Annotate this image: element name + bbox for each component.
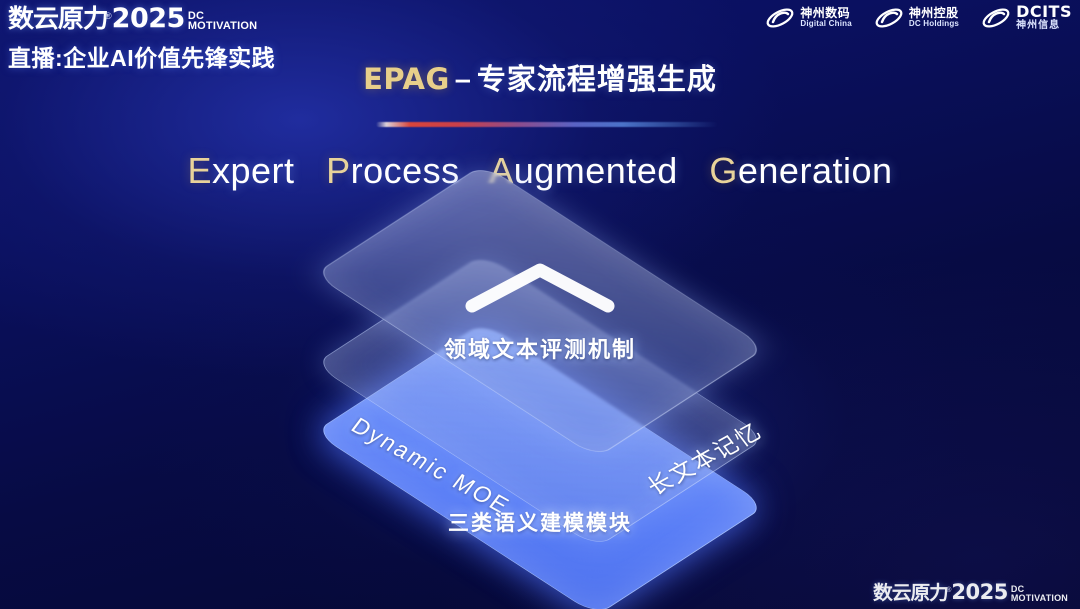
subtitle-word-augmented: Augmented (489, 150, 678, 191)
subtitle-remainder: ugmented (514, 150, 678, 191)
brand-year: 2025 (112, 5, 185, 32)
partner-logo-dcits: DCITS 神州信息 (981, 4, 1072, 31)
brand-motivation-label: MOTIVATION (188, 21, 257, 31)
subtitle-space (305, 150, 316, 191)
title-abbreviation: EPAG (363, 62, 450, 96)
chevron-up-icon (460, 258, 620, 316)
swirl-icon (874, 5, 904, 31)
subtitle-word-process: Process (326, 150, 460, 191)
partner-logo-digital-china: 神州数码 Digital China (765, 5, 852, 31)
watermark-dc-motivation: DC MOTIVATION (1011, 585, 1068, 602)
watermark-year: 2025 (951, 582, 1007, 603)
subtitle-word-generation: Generation (709, 150, 892, 191)
swirl-icon (765, 5, 795, 31)
corner-watermark: 数云原力®2025 DC MOTIVATION (873, 582, 1068, 603)
partner-name-en: Digital China (800, 20, 852, 28)
title-dash: – (455, 64, 472, 96)
subtitle-remainder: xpert (212, 150, 295, 191)
partner-name-en-primary: DCITS (1016, 4, 1072, 21)
chevron-up-glyph (460, 258, 620, 316)
brand-name-cn: 数云原力 (8, 7, 108, 32)
title-divider (376, 122, 718, 127)
slide-title: EPAG–专家流程增强生成 (0, 56, 1080, 98)
partner-name-en: DC Holdings (909, 20, 959, 28)
subtitle-remainder: rocess (351, 150, 460, 191)
subtitle-word-expert: Expert (187, 150, 294, 191)
watermark-registered-mark: ® (946, 587, 951, 594)
subtitle-initial: P (326, 150, 351, 191)
partner-logo-group: 神州数码 Digital China 神州控股 DC Holdings DCIT… (765, 4, 1072, 31)
brand-logo: 数云原力®2025 DC MOTIVATION (8, 2, 338, 32)
partner-name-cn: 神州控股 (909, 7, 959, 20)
swirl-icon (981, 5, 1011, 31)
partner-text-dc-holdings: 神州控股 DC Holdings (909, 7, 959, 28)
slide-subtitle: Expert Process Augmented Generation (0, 150, 1080, 192)
partner-text-dcits: DCITS 神州信息 (1016, 4, 1072, 31)
brand-dc-motivation: DC MOTIVATION (188, 11, 257, 31)
subtitle-initial: E (187, 150, 212, 191)
registered-mark: ® (105, 12, 112, 21)
presentation-slide: 数云原力®2025 DC MOTIVATION 直播:企业AI价值先锋实践 神州… (0, 0, 1080, 609)
subtitle-remainder: eneration (738, 150, 893, 191)
partner-text-digital-china: 神州数码 Digital China (800, 7, 852, 28)
partner-name-cn: 神州数码 (800, 7, 852, 20)
partner-logo-dc-holdings: 神州控股 DC Holdings (874, 5, 959, 31)
partner-name-cn-sub: 神州信息 (1016, 21, 1072, 32)
watermark-brand-cn: 数云原力 (873, 584, 948, 603)
subtitle-initial: G (709, 150, 738, 191)
subtitle-space (688, 150, 699, 191)
watermark-motivation-label: MOTIVATION (1011, 594, 1068, 602)
layer-stack-diagram: 领域文本评测机制 Dynamic MOE 长文本记忆 三类语义建模模块 (290, 222, 790, 572)
title-chinese: 专家流程增强生成 (477, 64, 717, 96)
